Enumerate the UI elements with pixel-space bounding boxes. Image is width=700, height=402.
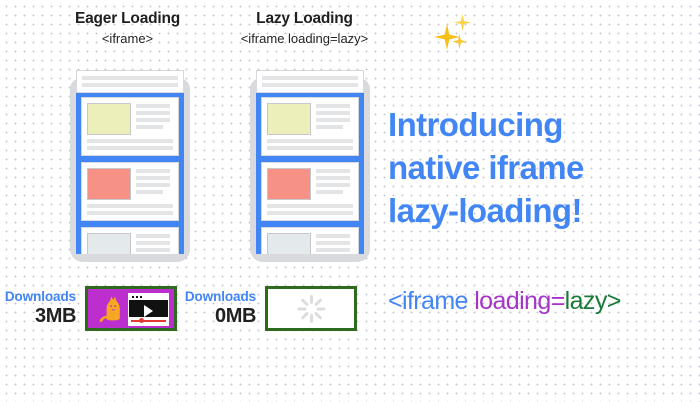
column-heading-lazy: Lazy Loading <iframe loading=lazy> — [197, 10, 412, 46]
code-attribute: loading= — [474, 287, 564, 315]
loading-spinner-icon — [297, 295, 325, 323]
article-card — [261, 227, 359, 254]
illustration-canvas: Eager Loading <iframe> Lazy Loading <ifr… — [0, 0, 700, 402]
text-line — [136, 241, 170, 245]
phone-mockup-eager — [70, 78, 190, 262]
article-card — [256, 70, 364, 93]
below-fold-content-eager — [70, 78, 190, 99]
play-icon — [144, 305, 153, 317]
text-line — [262, 76, 358, 80]
article-card — [81, 97, 179, 156]
text-line — [316, 111, 350, 115]
headline-line-1: Introducing — [388, 104, 688, 147]
text-line — [262, 83, 358, 87]
sparkle-medium-icon — [454, 14, 471, 31]
code-tag: <iframe — [388, 287, 474, 315]
text-line — [82, 76, 178, 80]
below-fold-content-lazy — [250, 78, 370, 99]
text-line — [136, 176, 170, 180]
article-card — [261, 97, 359, 156]
iframe-embed-loaded[interactable] — [85, 286, 177, 331]
text-line — [82, 83, 178, 87]
text-line — [136, 125, 163, 129]
text-line — [87, 146, 173, 150]
cat-icon — [98, 294, 128, 325]
text-line — [316, 241, 350, 245]
downloads-label-lazy: Downloads 0MB — [180, 289, 265, 328]
column-code-lazy: <iframe loading=lazy> — [197, 31, 412, 46]
text-line — [316, 176, 350, 180]
text-line — [316, 248, 350, 252]
article-thumbnail — [87, 168, 131, 200]
iframe-embed-placeholder[interactable] — [265, 286, 357, 331]
text-line — [136, 183, 170, 187]
article-thumbnail — [267, 103, 311, 135]
text-line — [316, 169, 350, 173]
downloads-row-lazy: Downloads 0MB — [180, 286, 357, 331]
headline-line-3: lazy-loading! — [388, 190, 688, 233]
text-line — [87, 211, 173, 215]
phone-viewport — [256, 91, 364, 254]
headline-line-2: native iframe — [388, 147, 688, 190]
article-thumbnail — [87, 233, 131, 254]
column-title-lazy: Lazy Loading — [197, 10, 412, 28]
text-line — [316, 118, 350, 122]
sparkles-icon — [432, 10, 492, 58]
phone-bezel — [70, 78, 190, 262]
phone-bezel — [250, 78, 370, 262]
article-card — [76, 70, 184, 93]
phone-mockup-lazy — [250, 78, 370, 262]
article-thumbnail — [267, 233, 311, 254]
text-line — [267, 211, 353, 215]
text-line — [87, 204, 173, 208]
text-line — [267, 146, 353, 150]
downloads-size: 3MB — [0, 305, 76, 328]
text-line — [136, 234, 170, 238]
downloads-row-eager: Downloads 3MB — [0, 286, 177, 331]
code-value: lazy> — [565, 287, 621, 315]
downloads-title: Downloads — [180, 289, 256, 304]
article-card — [81, 162, 179, 221]
text-line — [316, 234, 350, 238]
text-line — [316, 104, 350, 108]
video-player-icon — [128, 293, 169, 326]
article-thumbnail — [267, 168, 311, 200]
downloads-label-eager: Downloads 3MB — [0, 289, 85, 328]
downloads-title: Downloads — [0, 289, 76, 304]
text-line — [267, 204, 353, 208]
text-line — [136, 104, 170, 108]
text-line — [316, 125, 343, 129]
text-line — [267, 139, 353, 143]
code-snippet: <iframe loading=lazy> — [388, 287, 621, 316]
article-thumbnail — [87, 103, 131, 135]
text-line — [136, 169, 170, 173]
article-card — [81, 227, 179, 254]
text-line — [136, 111, 170, 115]
text-line — [136, 118, 170, 122]
text-line — [136, 190, 163, 194]
text-line — [316, 190, 343, 194]
headline: Introducing native iframe lazy-loading! — [388, 104, 688, 233]
sparkle-large-icon — [434, 24, 460, 50]
text-line — [87, 139, 173, 143]
text-line — [316, 183, 350, 187]
phone-viewport — [76, 91, 184, 254]
text-line — [136, 248, 170, 252]
downloads-size: 0MB — [180, 305, 256, 328]
article-card — [261, 162, 359, 221]
